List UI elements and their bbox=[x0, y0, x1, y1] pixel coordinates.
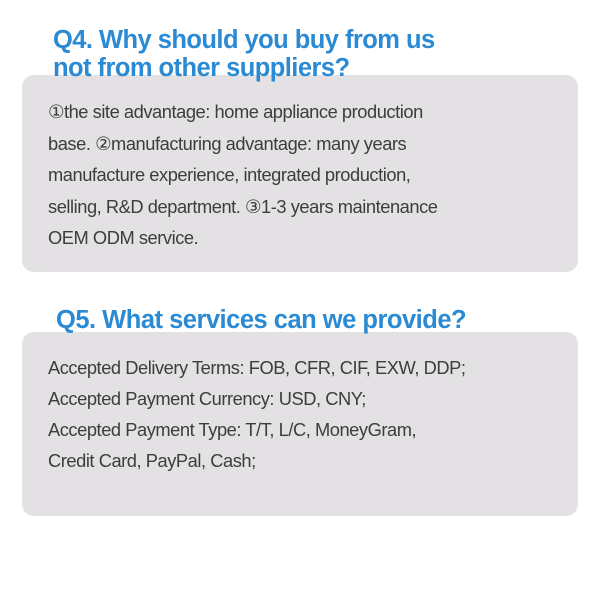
faq-page: Q4. Why should you buy from us not from … bbox=[0, 0, 600, 600]
faq-block-q4: Q4. Why should you buy from us not from … bbox=[22, 26, 578, 254]
faq-question-heading-q4: Q4. Why should you buy from us not from … bbox=[22, 26, 578, 82]
faq-answer-text-q4: ①the site advantage: home appliance prod… bbox=[22, 82, 578, 254]
faq-answer-text-q5: Accepted Delivery Terms: FOB, CFR, CIF, … bbox=[22, 334, 578, 476]
faq-question-heading-q5: Q5. What services can we provide? bbox=[22, 306, 578, 334]
faq-content-q5: Q5. What services can we provide? Accept… bbox=[22, 306, 578, 476]
faq-block-q5: Q5. What services can we provide? Accept… bbox=[22, 306, 578, 476]
faq-content-q4: Q4. Why should you buy from us not from … bbox=[22, 26, 578, 254]
